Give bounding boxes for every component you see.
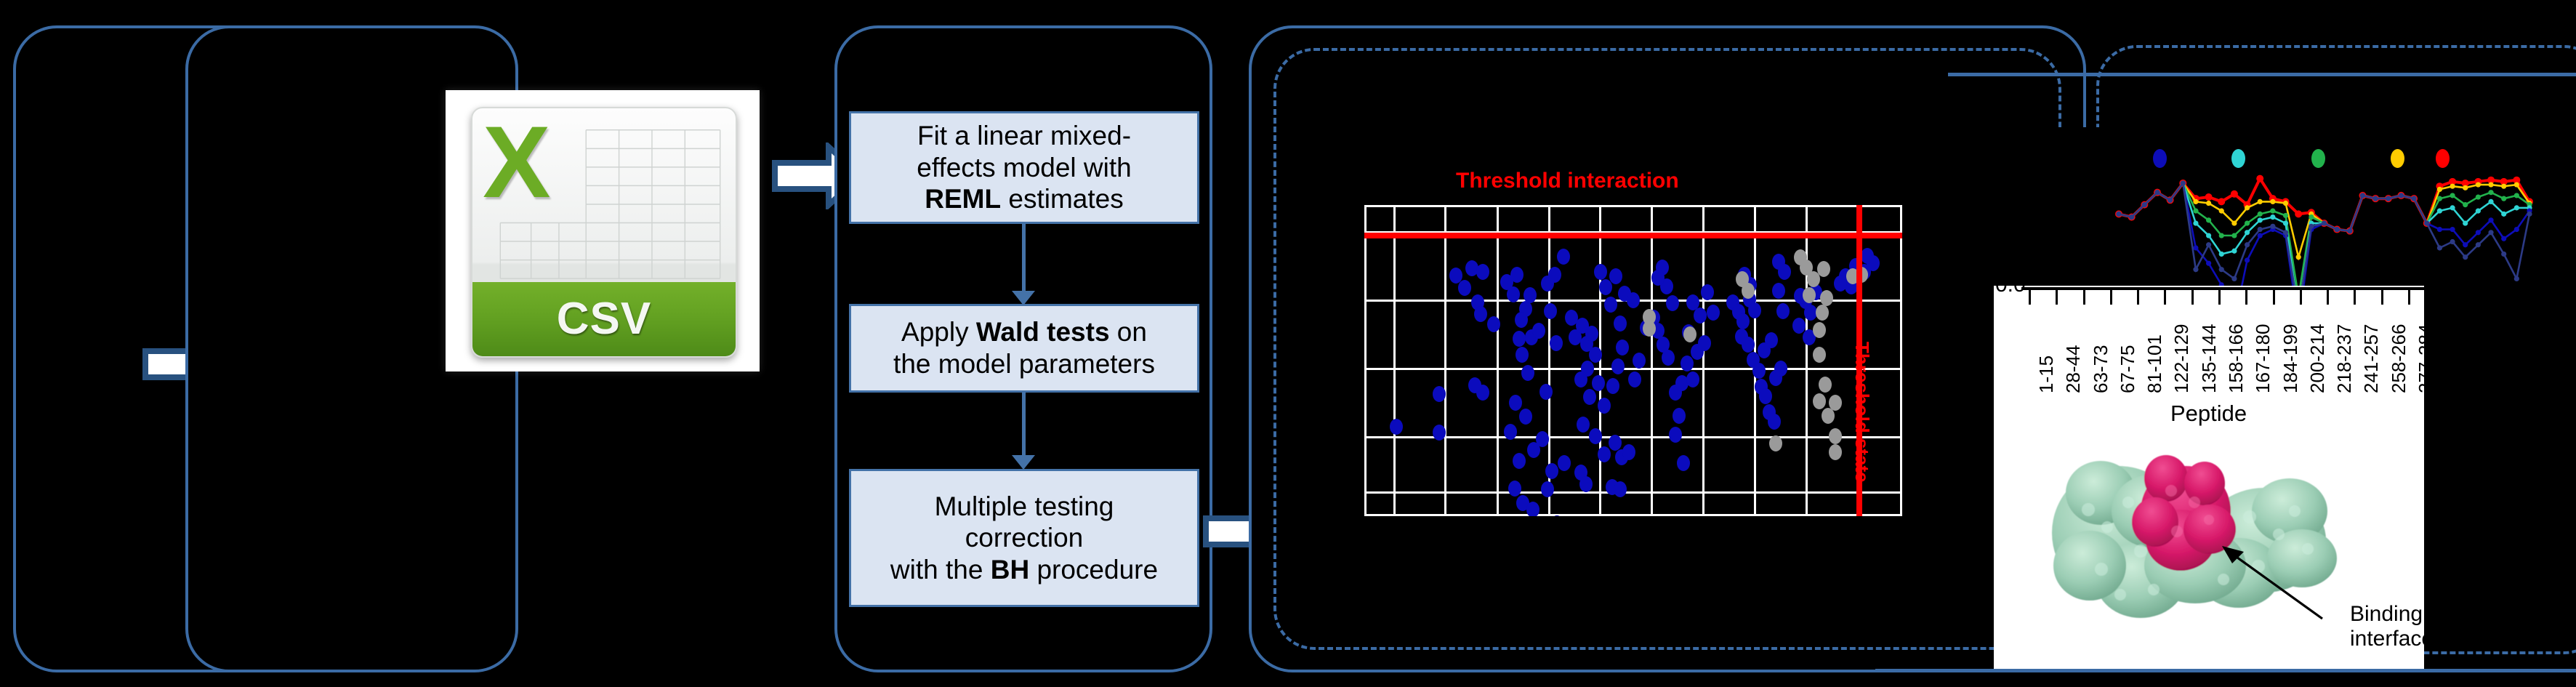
- peptide-series-point: [2437, 196, 2442, 201]
- peptide-series-point: [2245, 230, 2250, 235]
- peptide-series-point: [2476, 209, 2481, 214]
- csv-label: CSV: [557, 293, 651, 345]
- peptide-series-point: [2283, 201, 2288, 206]
- peptide-series-point: [2206, 233, 2211, 238]
- peptide-series-point: [2206, 201, 2211, 206]
- x-axis-tick-label: 277-284: [2415, 324, 2424, 393]
- peptide-series-point: [2219, 233, 2224, 238]
- peptide-chart-white-area: 0.0 1-1528-4463-7367-7581-101122-129135-…: [1994, 286, 2424, 672]
- peptide-series-point: [2335, 227, 2340, 232]
- peptide-series-point: [2488, 199, 2493, 204]
- peptide-series-point: [2206, 242, 2211, 247]
- peptide-series-point: [2219, 267, 2224, 272]
- peptide-series-point: [2463, 202, 2468, 207]
- x-axis-tick-label: 67-75: [2117, 345, 2139, 394]
- peptide-series-point: [2219, 209, 2224, 214]
- x-axis-tick-label: 258-266: [2388, 324, 2410, 393]
- peptide-series-point: [2450, 239, 2455, 244]
- peptide-series-point: [2463, 185, 2468, 190]
- peptide-series-point: [2476, 182, 2481, 187]
- peptide-series-point: [2129, 214, 2134, 220]
- arrowhead-model-to-wald: [1012, 291, 1035, 305]
- peptide-series-point: [2270, 224, 2275, 229]
- peptide-series-point: [2501, 252, 2506, 257]
- fit-model-text: Fit a linear mixed-effects model withREM…: [917, 120, 1131, 215]
- peptide-series-point: [2437, 187, 2442, 192]
- peptide-series-point: [2514, 227, 2519, 232]
- peptide-series-point: [2450, 205, 2455, 210]
- peptide-series-point: [2218, 198, 2225, 205]
- peptide-series-point: [2231, 220, 2237, 225]
- csv-x-glyph: X: [483, 113, 572, 228]
- peptide-series-point: [2206, 217, 2211, 222]
- peptide-series-point: [2283, 220, 2288, 225]
- x-axis-tick-label: 167-180: [2252, 324, 2274, 393]
- peptide-series-point: [2309, 224, 2314, 229]
- peptide-series-point: [2258, 227, 2263, 232]
- peptide-series-point: [2283, 213, 2288, 218]
- peptide-series-point: [2437, 245, 2442, 250]
- peptide-series-point: [2270, 214, 2275, 220]
- peptide-series-point: [2181, 180, 2186, 185]
- peptide-series-point: [2142, 202, 2147, 207]
- binding-interface-line2: interface: [2350, 627, 2424, 651]
- wald-tests-box: Apply Wald tests onthe model parameters: [849, 304, 1199, 393]
- peptide-series-point: [2295, 210, 2302, 217]
- csv-file-icon: X CSV: [446, 90, 760, 371]
- x-axis-tick-label: 158-166: [2225, 324, 2247, 393]
- peptide-series-point: [2488, 217, 2493, 222]
- peptide-series-point: [2514, 276, 2519, 281]
- x-axis-tick-label: 63-73: [2090, 345, 2112, 394]
- peptide-series-point: [2270, 209, 2275, 214]
- wald-tests-text: Apply Wald tests onthe model parameters: [893, 316, 1155, 379]
- peptide-series-point: [2450, 184, 2455, 189]
- peptide-series-point: [2245, 242, 2250, 247]
- peptide-series-point: [2424, 220, 2429, 225]
- peptide-series-point: [2270, 199, 2275, 204]
- arrowhead-wald-to-bh: [1012, 455, 1035, 470]
- peptide-series-point: [2514, 193, 2519, 198]
- peptide-series-point: [2476, 194, 2481, 199]
- peptide-series-point: [2373, 196, 2378, 201]
- peptide-series-point: [2231, 233, 2237, 238]
- peptide-series-point: [2309, 214, 2314, 220]
- x-axis-tick-label: 135-144: [2198, 324, 2221, 393]
- flowchart-canvas: X CSV Fit a linear mixed-effects model w…: [0, 0, 2576, 687]
- peptide-series-point: [2116, 212, 2121, 217]
- peptide-series-point: [2322, 220, 2327, 225]
- peptide-series-point: [2514, 205, 2519, 210]
- peptide-series-point: [2231, 249, 2237, 254]
- protein-surface-render: [2032, 424, 2351, 642]
- peptide-series-point: [2476, 242, 2481, 247]
- peptide-series-point: [2360, 193, 2365, 198]
- peptide-series-point: [2463, 220, 2468, 225]
- peptide-series-point: [2476, 230, 2481, 235]
- peptide-series-point: [2488, 230, 2493, 235]
- x-axis-tick-label: 184-199: [2279, 324, 2302, 393]
- peptide-series-point: [2258, 217, 2263, 222]
- peptide-series-point: [2258, 233, 2263, 238]
- threshold-interaction-label: Threshold interaction: [1456, 169, 1679, 193]
- peptide-series-point: [2437, 227, 2442, 232]
- scatter-points-layer: [1364, 205, 1902, 516]
- peptide-series-point: [2283, 230, 2288, 235]
- peptide-series-point: [2168, 198, 2173, 203]
- panel-5-bottom-rule: [1875, 669, 2576, 672]
- peptide-series-point: [2437, 209, 2442, 214]
- peptide-series-point: [2258, 212, 2263, 217]
- x-axis-tick-label: 81-101: [2144, 334, 2166, 393]
- peptide-series-point: [2256, 175, 2263, 182]
- peptide-series-point: [2501, 196, 2506, 201]
- peptide-series-point: [2245, 220, 2250, 225]
- peptide-series-point: [2231, 276, 2237, 281]
- volcano-scatter-plot: Threshold interaction: [1348, 153, 1915, 531]
- panel-5-top-rule: [1948, 73, 2576, 76]
- x-axis-title: Peptide: [2170, 401, 2247, 427]
- binding-interface-line1: Binding: [2350, 602, 2424, 627]
- peptide-series-point: [2296, 254, 2301, 260]
- x-axis-tick-label: 218-237: [2333, 324, 2356, 393]
- peptide-series-point: [2206, 261, 2211, 266]
- peptide-series-point: [2463, 242, 2468, 247]
- fit-model-box: Fit a linear mixed-effects model withREM…: [849, 111, 1199, 224]
- peptide-series-point: [2193, 209, 2198, 214]
- peptide-series-point: [2219, 252, 2224, 257]
- peptide-series-point: [2514, 182, 2519, 187]
- peptide-series-point: [2245, 257, 2250, 262]
- csv-band: CSV: [472, 282, 736, 356]
- x-axis-tick-labels: 1-1528-4463-7367-7581-101122-129135-1441…: [1994, 286, 2424, 417]
- peptide-series-point: [2258, 199, 2263, 204]
- peptide-series-point: [2450, 193, 2455, 198]
- peptide-series-point: [2488, 182, 2493, 187]
- peptide-series-point: [2193, 267, 2198, 272]
- x-axis-tick-label: 122-129: [2170, 324, 2193, 393]
- bh-correction-text: Multiple testingcorrectionwith the BH pr…: [890, 491, 1158, 586]
- peptide-series-point: [2501, 236, 2506, 241]
- peptide-series-point: [2245, 205, 2250, 210]
- peptide-series-point: [2450, 227, 2455, 232]
- connector-wald-to-bh: [1022, 393, 1026, 455]
- peptide-series-point: [2193, 245, 2198, 250]
- bh-correction-box: Multiple testingcorrectionwith the BH pr…: [849, 469, 1199, 607]
- peptide-series-point: [2527, 212, 2532, 217]
- peptide-series-point: [2205, 193, 2213, 201]
- x-axis-tick-label: 1-15: [2035, 355, 2058, 393]
- peptide-series-point: [2463, 254, 2468, 260]
- peptide-series-point: [2386, 196, 2391, 201]
- x-axis-tick-label: 28-44: [2062, 345, 2085, 394]
- binding-interface-annotation: Binding interface: [2350, 602, 2424, 651]
- peptide-series-point: [2399, 193, 2404, 198]
- peptide-series-point: [2347, 228, 2352, 233]
- peptide-series-point: [2193, 199, 2198, 204]
- peptide-series-point: [2501, 184, 2506, 189]
- scatter-plot-area: [1364, 205, 1902, 516]
- peptide-series-point: [2154, 190, 2160, 195]
- x-axis-tick-label: 200-214: [2306, 324, 2329, 393]
- peptide-series-point: [2488, 190, 2493, 195]
- peptide-series-point: [2193, 220, 2198, 225]
- peptide-series-point: [2231, 190, 2238, 198]
- threshold-state-label: Threshold state: [1851, 342, 1873, 483]
- connector-model-to-wald: [1022, 224, 1026, 291]
- peptide-series-point: [2411, 196, 2416, 201]
- peptide-series-point: [2501, 212, 2506, 217]
- threshold-interaction-line: [1364, 233, 1902, 238]
- x-axis-tick-label: 241-257: [2360, 324, 2383, 393]
- peptide-series-line: [2119, 183, 2529, 297]
